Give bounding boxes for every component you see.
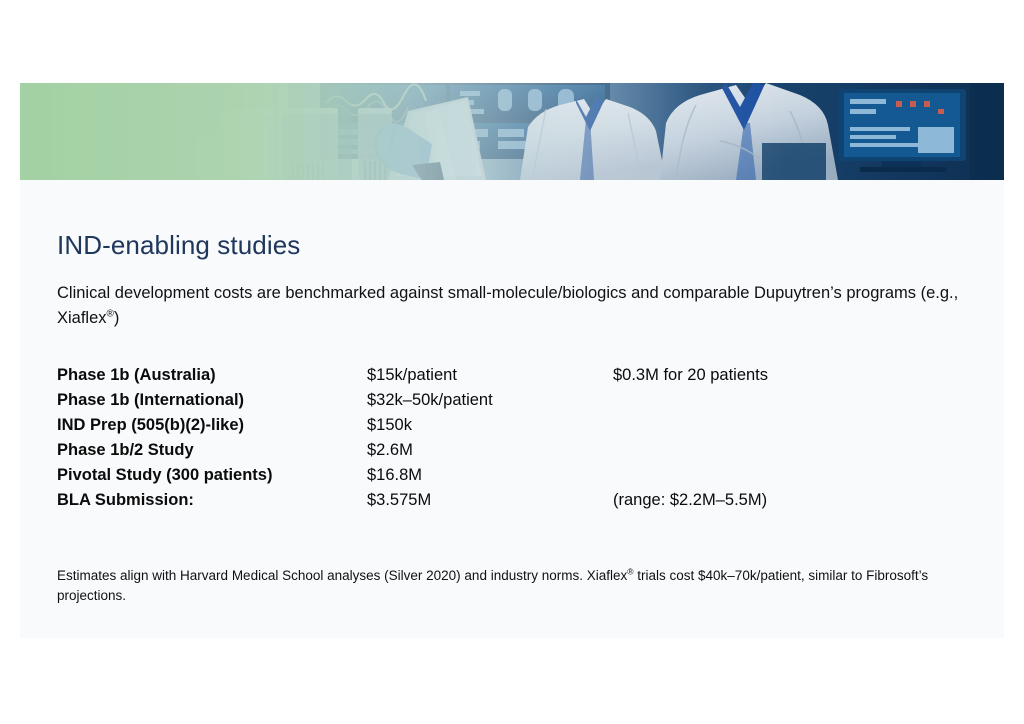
table-row: IND Prep (505(b)(2)-like) $150k bbox=[57, 413, 967, 438]
table-row: Phase 1b (International) $32k–50k/patien… bbox=[57, 388, 967, 413]
intro-paragraph-text-part2: ) bbox=[114, 309, 120, 327]
intro-paragraph-text-part1: Clinical development costs are benchmark… bbox=[57, 284, 958, 327]
cost-item-note: (range: $2.2M–5.5M) bbox=[613, 488, 767, 513]
cost-item-label: Pivotal Study (300 patients) bbox=[57, 463, 272, 488]
cost-item-label: Phase 1b (Australia) bbox=[57, 363, 216, 388]
cost-breakdown-table: Phase 1b (Australia) $15k/patient $0.3M … bbox=[57, 363, 967, 513]
cost-item-label: Phase 1b (International) bbox=[57, 388, 244, 413]
table-row: Pivotal Study (300 patients) $16.8M bbox=[57, 463, 967, 488]
cost-item-note: $0.3M for 20 patients bbox=[613, 363, 768, 388]
slide-body: IND-enabling studies Clinical developmen… bbox=[20, 180, 1004, 638]
cost-item-value: $15k/patient bbox=[367, 363, 457, 388]
cost-item-value: $32k–50k/patient bbox=[367, 388, 493, 413]
slide-canvas: IND-enabling studies Clinical developmen… bbox=[0, 0, 1024, 724]
cost-item-label: Phase 1b/2 Study bbox=[57, 438, 194, 463]
cost-item-label: IND Prep (505(b)(2)-like) bbox=[57, 413, 244, 438]
footnote-text-part1: Estimates align with Harvard Medical Sch… bbox=[57, 568, 627, 583]
table-row: Phase 1b (Australia) $15k/patient $0.3M … bbox=[57, 363, 967, 388]
cost-item-label: BLA Submission: bbox=[57, 488, 194, 513]
cost-item-value: $2.6M bbox=[367, 438, 413, 463]
table-row: Phase 1b/2 Study $2.6M bbox=[57, 438, 967, 463]
content-card: IND-enabling studies Clinical developmen… bbox=[20, 83, 1004, 638]
page-title: IND-enabling studies bbox=[57, 230, 300, 261]
intro-paragraph: Clinical development costs are benchmark… bbox=[57, 281, 967, 331]
cost-item-value: $16.8M bbox=[367, 463, 422, 488]
footnote: Estimates align with Harvard Medical Sch… bbox=[57, 566, 962, 606]
cost-item-value: $150k bbox=[367, 413, 412, 438]
registered-trademark-icon: ® bbox=[107, 308, 114, 319]
header-banner-image bbox=[20, 83, 1004, 180]
table-row: BLA Submission: $3.575M (range: $2.2M–5.… bbox=[57, 488, 967, 513]
cost-item-value: $3.575M bbox=[367, 488, 431, 513]
